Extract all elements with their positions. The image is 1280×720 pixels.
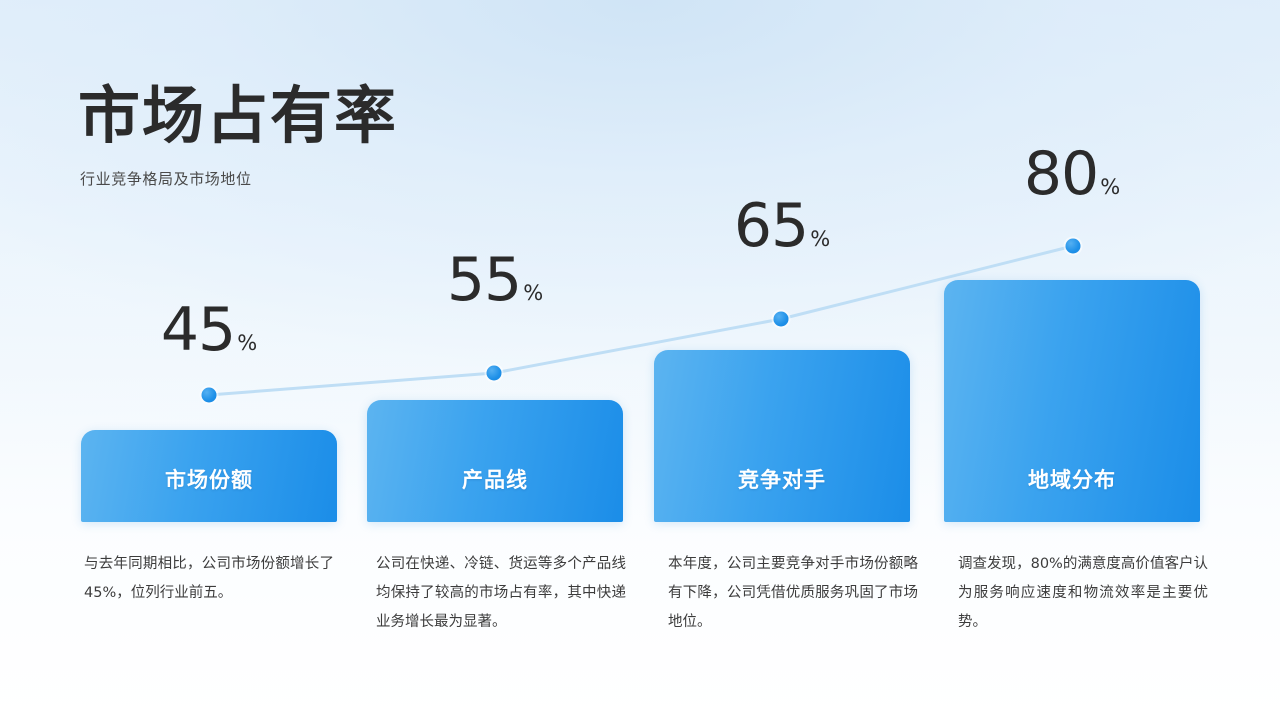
description-1: 与去年同期相比，公司市场份额增长了45%，位列行业前五。 bbox=[84, 550, 334, 608]
value-label-1: 45% bbox=[161, 300, 257, 360]
bar-competitors[interactable]: 竞争对手 bbox=[654, 350, 910, 522]
value-label-3: 65% bbox=[734, 196, 830, 256]
value-number-1: 45 bbox=[161, 295, 235, 365]
bar-product-line[interactable]: 产品线 bbox=[367, 400, 623, 522]
value-unit-2: % bbox=[523, 281, 543, 305]
value-number-2: 55 bbox=[447, 245, 521, 315]
value-label-4: 80% bbox=[1024, 144, 1120, 204]
bar-label-3: 竞争对手 bbox=[654, 464, 910, 494]
value-label-2: 55% bbox=[447, 250, 543, 310]
value-number-3: 65 bbox=[734, 191, 808, 261]
value-unit-1: % bbox=[237, 331, 257, 355]
bar-label-2: 产品线 bbox=[367, 464, 623, 494]
market-share-chart: 45% 55% 65% 80% 市场份额 产品线 竞争对手 地域分布 与去年同期… bbox=[0, 0, 1280, 720]
data-point-3[interactable] bbox=[774, 312, 789, 327]
data-point-1[interactable] bbox=[202, 388, 217, 403]
data-point-2[interactable] bbox=[487, 366, 502, 381]
description-4: 调查发现，80%的满意度高价值客户认为服务响应速度和物流效率是主要优势。 bbox=[958, 550, 1208, 637]
bar-market-share[interactable]: 市场份额 bbox=[81, 430, 337, 522]
value-unit-3: % bbox=[810, 227, 830, 251]
description-2: 公司在快递、冷链、货运等多个产品线均保持了较高的市场占有率，其中快递业务增长最为… bbox=[376, 550, 626, 637]
bar-regional-distribution[interactable]: 地域分布 bbox=[944, 280, 1200, 522]
value-unit-4: % bbox=[1100, 175, 1120, 199]
slide-canvas: 市场占有率 行业竞争格局及市场地位 45% 55% 65% 80% 市场份额 产… bbox=[0, 0, 1280, 720]
data-point-4[interactable] bbox=[1066, 239, 1081, 254]
bar-label-1: 市场份额 bbox=[81, 464, 337, 494]
description-3: 本年度，公司主要竞争对手市场份额略有下降，公司凭借优质服务巩固了市场地位。 bbox=[668, 550, 918, 637]
value-number-4: 80 bbox=[1024, 139, 1098, 209]
bar-label-4: 地域分布 bbox=[944, 464, 1200, 494]
